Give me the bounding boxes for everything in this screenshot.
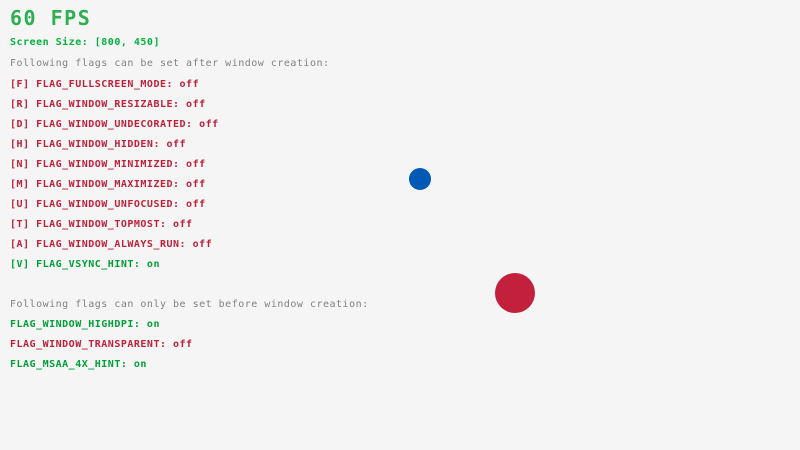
flag-row-flag-window-unfocused[interactable]: [U] FLAG_WINDOW_UNFOCUSED: off: [10, 200, 206, 210]
flag-row-flag-msaa-4x-hint[interactable]: FLAG_MSAA_4X_HINT: on: [10, 360, 147, 370]
flag-row-flag-window-undecorated[interactable]: [D] FLAG_WINDOW_UNDECORATED: off: [10, 120, 219, 130]
flag-row-flag-window-maximized[interactable]: [M] FLAG_WINDOW_MAXIMIZED: off: [10, 180, 206, 190]
flag-row-flag-window-topmost[interactable]: [T] FLAG_WINDOW_TOPMOST: off: [10, 220, 193, 230]
flag-row-flag-window-transparent[interactable]: FLAG_WINDOW_TRANSPARENT: off: [10, 340, 193, 350]
fps-counter: 60 FPS: [10, 8, 91, 28]
flag-row-flag-window-resizable[interactable]: [R] FLAG_WINDOW_RESIZABLE: off: [10, 100, 206, 110]
screen-size-label: Screen Size: [800, 450]: [10, 38, 160, 48]
flag-row-flag-vsync-hint[interactable]: [V] FLAG_VSYNC_HINT: on: [10, 260, 160, 270]
red-ball-shape: [495, 273, 535, 313]
flag-row-flag-window-hidden[interactable]: [H] FLAG_WINDOW_HIDDEN: off: [10, 140, 186, 150]
creation-flags-heading: Following flags can only be set before w…: [10, 300, 369, 310]
flag-row-flag-window-always-run[interactable]: [A] FLAG_WINDOW_ALWAYS_RUN: off: [10, 240, 212, 250]
flag-row-flag-window-highdpi[interactable]: FLAG_WINDOW_HIGHDPI: on: [10, 320, 160, 330]
flag-row-flag-window-minimized[interactable]: [N] FLAG_WINDOW_MINIMIZED: off: [10, 160, 206, 170]
flag-row-flag-fullscreen-mode[interactable]: [F] FLAG_FULLSCREEN_MODE: off: [10, 80, 199, 90]
runtime-flags-heading: Following flags can be set after window …: [10, 59, 330, 69]
blue-ball-shape: [409, 168, 431, 190]
raylib-window: 60 FPS Screen Size: [800, 450] Following…: [0, 0, 800, 450]
